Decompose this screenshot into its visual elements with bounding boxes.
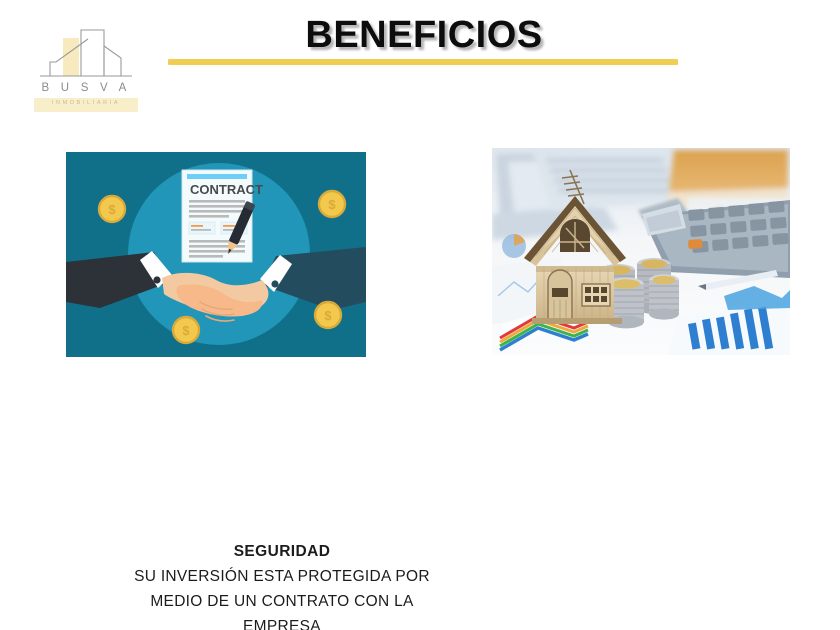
slide-canvas: B U S V A INMOBILIARIA BENEFICIOS CONTRA… [0,0,840,630]
svg-text:$: $ [108,202,116,217]
page-title: BENEFICIOS [168,16,680,56]
benefit-card-ahorro: AHORRO PRECIOS MUY POR DE BAJO DEL VALOR… [492,148,790,355]
caption-heading: SEGURIDAD [92,540,472,564]
caption-line: EMPRESA [92,614,472,630]
caption-seguridad: SEGURIDAD SU INVERSIÓN ESTA PROTEGIDA PO… [92,540,472,630]
logo-subtitle: INMOBILIARIA [26,100,146,106]
svg-text:$: $ [324,308,332,323]
logo-wordmark: B U S V A [26,82,146,94]
svg-text:$: $ [182,323,190,338]
company-logo: B U S V A INMOBILIARIA [26,24,146,112]
caption-line: SU INVERSIÓN ESTA PROTEGIDA POR [92,564,472,589]
svg-text:CONTRACT: CONTRACT [190,182,263,197]
benefit-card-seguridad: CONTRACT [66,152,366,357]
title-underline-rule [168,59,678,65]
model-house-coins-photo [492,148,790,355]
svg-text:$: $ [328,197,336,212]
caption-line: MEDIO DE UN CONTRATO CON LA [92,589,472,614]
handshake-contract-illustration: CONTRACT [66,152,366,357]
building-outline-icon [26,24,146,84]
